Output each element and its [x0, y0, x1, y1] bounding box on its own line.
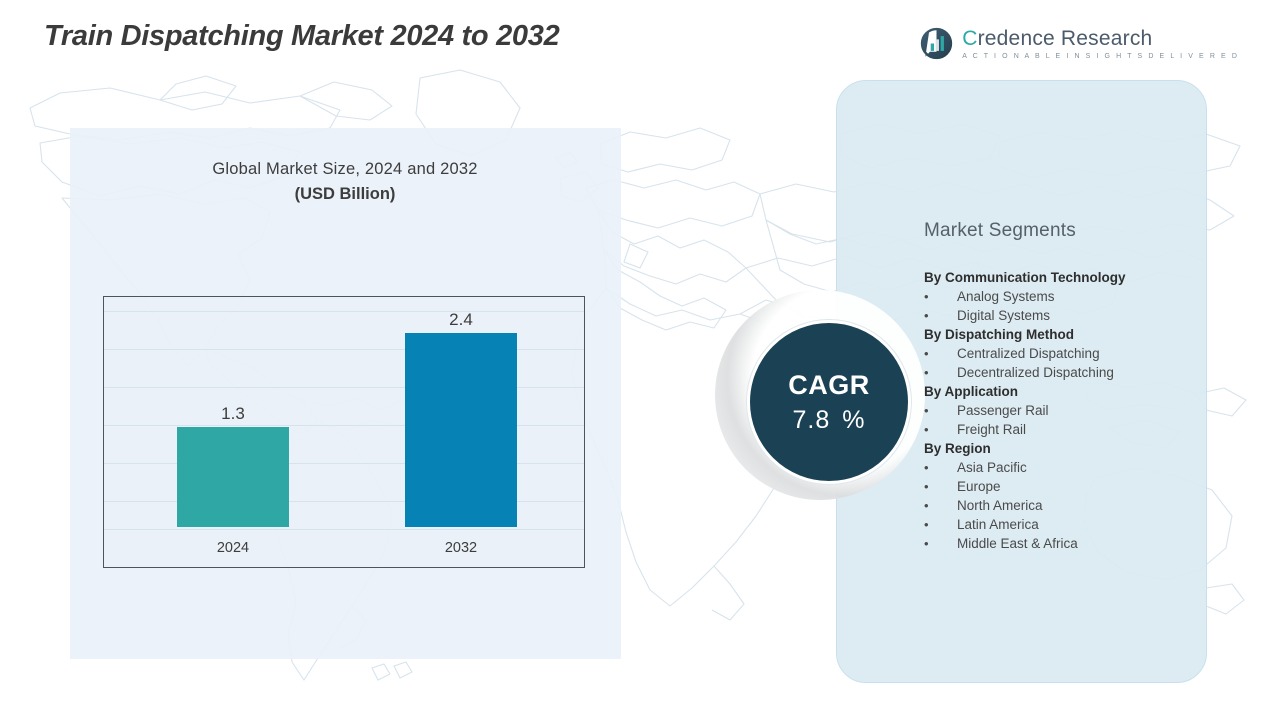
segment-item: • Centralized Dispatching [924, 344, 1204, 363]
logo-wordmark: Credence Research A C T I O N A B L E I … [962, 28, 1239, 60]
bar-value-2024: 1.3 [177, 404, 289, 424]
segment-item: • Passenger Rail [924, 401, 1204, 420]
bars-area: 1.3 2024 2.4 2032 [104, 297, 584, 567]
segment-item: • Analog Systems [924, 287, 1204, 306]
segment-group-title: By Application [924, 382, 1204, 401]
segment-item: • Freight Rail [924, 420, 1204, 439]
bar-label-2024: 2024 [177, 540, 289, 556]
bullet-icon: • [924, 477, 957, 496]
segment-group-dispatching-method: By Dispatching Method • Centralized Disp… [924, 325, 1204, 382]
segment-item: • Latin America [924, 515, 1204, 534]
segment-item-label: Decentralized Dispatching [957, 363, 1114, 382]
bar-group-2032: 2.4 [405, 283, 517, 527]
bar-2032 [405, 333, 517, 527]
bar-2024 [177, 427, 289, 527]
segment-item-label: Europe [957, 477, 1001, 496]
logo-name-initial: C [962, 27, 977, 50]
bullet-icon: • [924, 534, 957, 553]
segment-group-application: By Application • Passenger Rail • Freigh… [924, 382, 1204, 439]
bar-chart-plot: 1.3 2024 2.4 2032 [103, 296, 585, 568]
bar-group-2024: 1.3 [177, 335, 289, 527]
market-segments: Market Segments By Communication Technol… [924, 220, 1204, 553]
segment-item-label: North America [957, 496, 1043, 515]
segment-group-title: By Communication Technology [924, 268, 1204, 287]
segment-item: • Decentralized Dispatching [924, 363, 1204, 382]
segment-item-label: Middle East & Africa [957, 534, 1078, 553]
brand-logo: Credence Research A C T I O N A B L E I … [920, 27, 1239, 60]
bar-value-2032: 2.4 [405, 310, 517, 330]
bullet-icon: • [924, 306, 957, 325]
segment-item-label: Asia Pacific [957, 458, 1027, 477]
cagr-label: CAGR [788, 370, 870, 401]
chart-subtitle: (USD Billion) [104, 185, 586, 204]
chart-heading: Global Market Size, 2024 and 2032 (USD B… [104, 160, 586, 204]
infographic-canvas: Train Dispatching Market 2024 to 2032 Cr… [0, 0, 1267, 713]
bullet-icon: • [924, 420, 957, 439]
cagr-value: 7.8 [793, 406, 831, 434]
segment-item-label: Freight Rail [957, 420, 1026, 439]
logo-tagline: A C T I O N A B L E I N S I G H T S D E … [962, 53, 1239, 60]
bullet-icon: • [924, 363, 957, 382]
segment-item-label: Analog Systems [957, 287, 1055, 306]
bullet-icon: • [924, 515, 957, 534]
cagr-unit: % [842, 406, 865, 434]
segment-item: • Digital Systems [924, 306, 1204, 325]
bullet-icon: • [924, 344, 957, 363]
segment-item-label: Passenger Rail [957, 401, 1049, 420]
logo-name: Credence Research [962, 28, 1239, 49]
cagr-value-row: 7.8% [793, 406, 866, 435]
bar-label-2032: 2032 [405, 540, 517, 556]
segment-item-label: Digital Systems [957, 306, 1050, 325]
segment-item: • Europe [924, 477, 1204, 496]
segment-group-title: By Dispatching Method [924, 325, 1204, 344]
bullet-icon: • [924, 458, 957, 477]
logo-name-rest: redence Research [978, 27, 1153, 50]
chart-title: Global Market Size, 2024 and 2032 [104, 160, 586, 179]
segment-item: • North America [924, 496, 1204, 515]
segment-group-communication-technology: By Communication Technology • Analog Sys… [924, 268, 1204, 325]
segment-item: • Middle East & Africa [924, 534, 1204, 553]
segment-group-region: By Region • Asia Pacific • Europe • Nort… [924, 439, 1204, 553]
bullet-icon: • [924, 401, 957, 420]
bullet-icon: • [924, 287, 957, 306]
segment-item-label: Latin America [957, 515, 1039, 534]
segment-group-title: By Region [924, 439, 1204, 458]
segments-title: Market Segments [924, 220, 1204, 242]
bar-chart-circle-icon [920, 27, 953, 60]
segment-item-label: Centralized Dispatching [957, 344, 1100, 363]
bullet-icon: • [924, 496, 957, 515]
cagr-badge: CAGR 7.8% [747, 320, 911, 484]
segment-item: • Asia Pacific [924, 458, 1204, 477]
page-title: Train Dispatching Market 2024 to 2032 [44, 20, 559, 53]
